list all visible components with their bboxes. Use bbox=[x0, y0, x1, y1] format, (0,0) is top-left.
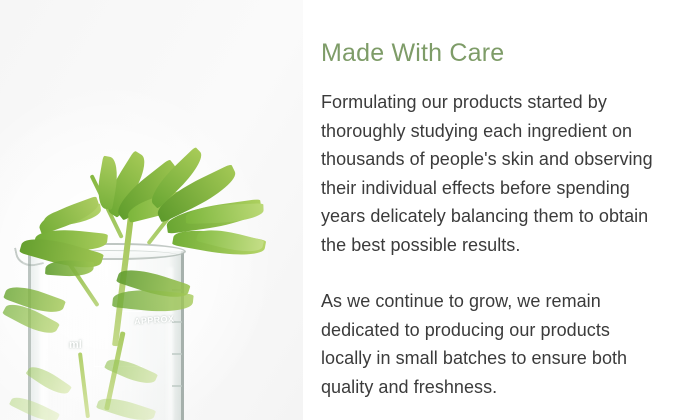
plant-leaf-lower bbox=[9, 392, 60, 420]
plant-leaf bbox=[185, 203, 264, 224]
stevia-plant bbox=[0, 0, 303, 420]
body-copy: Formulating our products started by thor… bbox=[321, 88, 659, 401]
made-with-care-banner: APPROX ml bbox=[0, 0, 679, 420]
plant-stem-lower-b bbox=[78, 352, 90, 418]
text-content-panel: Made With Care Formulating our products … bbox=[303, 0, 679, 420]
plant-leaf-in-beaker bbox=[45, 259, 94, 278]
page-title: Made With Care bbox=[321, 38, 504, 68]
paragraph-1: Formulating our products started by thor… bbox=[321, 88, 659, 259]
plant-leaf-lower bbox=[25, 361, 72, 399]
plant-leaf-lower bbox=[96, 393, 156, 420]
product-image-panel: APPROX ml bbox=[0, 0, 303, 420]
paragraph-2: As we continue to grow, we remain dedica… bbox=[321, 287, 659, 401]
